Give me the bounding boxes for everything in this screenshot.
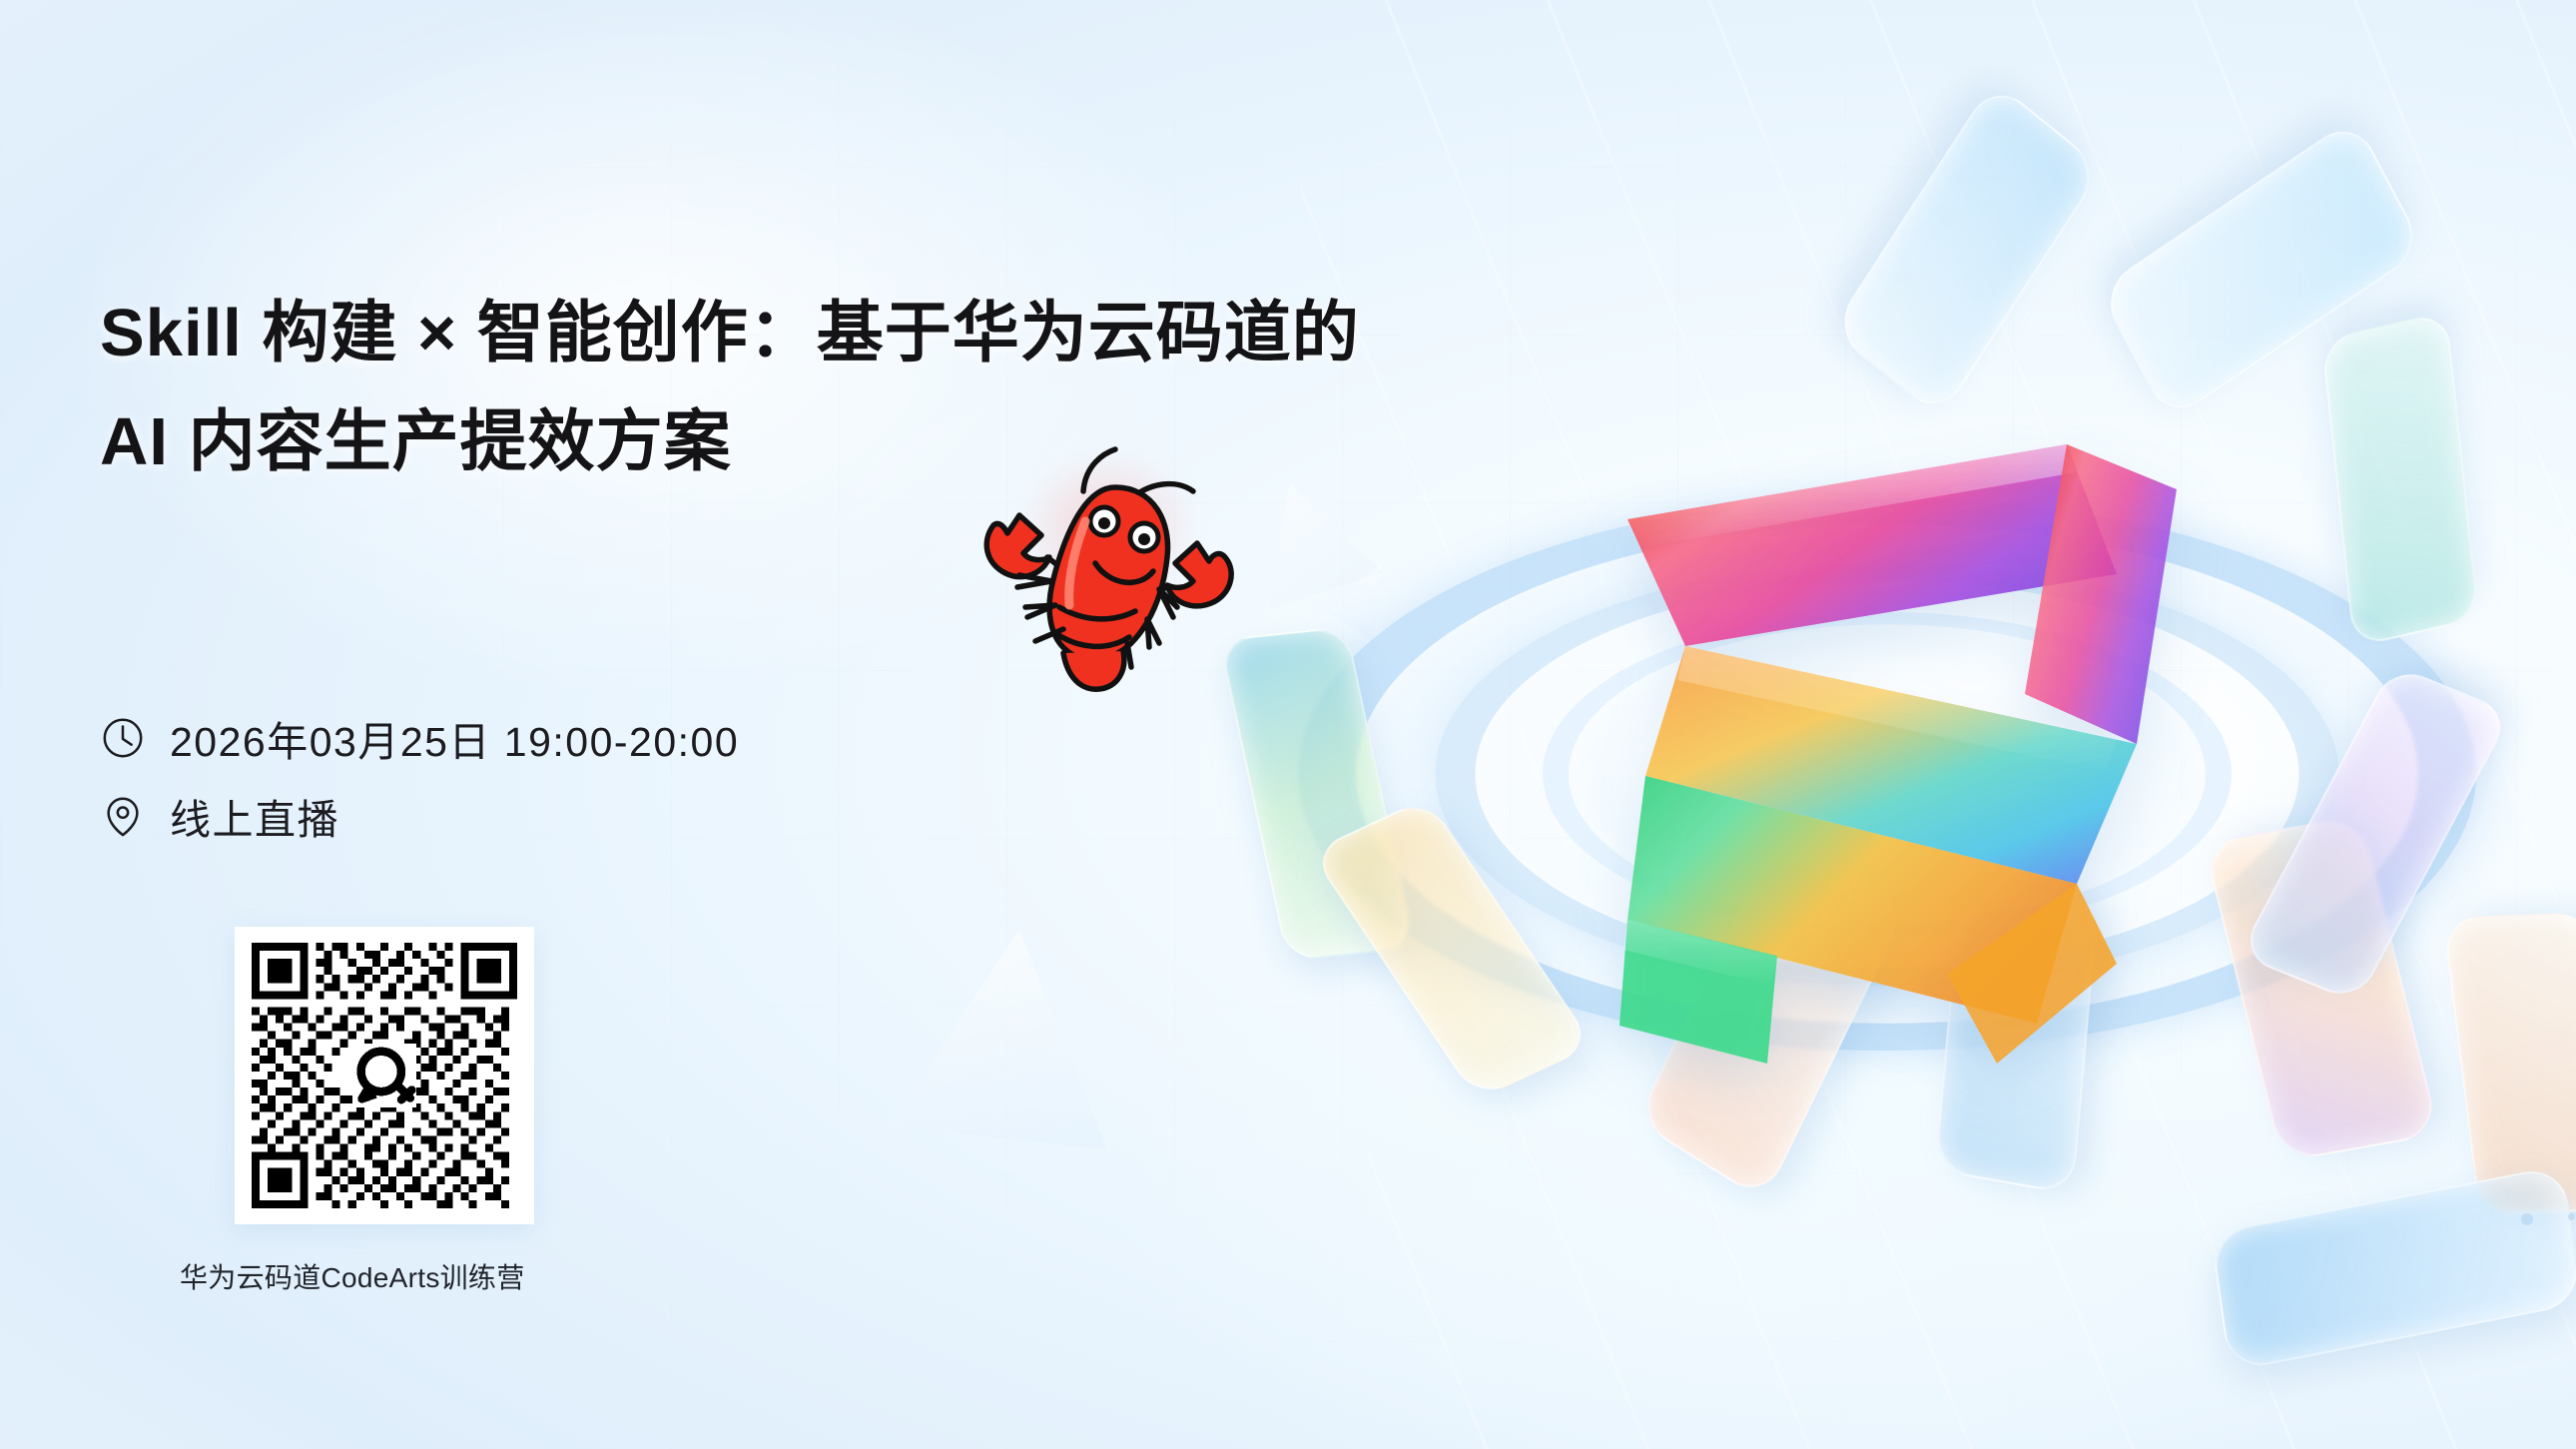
event-location: 线上直播 — [170, 786, 339, 846]
glass-blade — [2321, 311, 2479, 647]
qr-caption: 华为云码道CodeArts训练营 — [180, 1256, 479, 1296]
glass-blade — [2211, 1164, 2576, 1372]
lobster-sticker — [964, 429, 1253, 709]
qr-code[interactable] — [235, 927, 534, 1224]
clock-icon — [100, 715, 146, 761]
rainbow-ribbon-logo — [1478, 325, 2316, 1123]
page-title-line-2: AI 内容生产提效方案 — [100, 388, 1518, 497]
promo-banner: Skill 构建 × 智能创作：基于华为云码道的 AI 内容生产提效方案 202… — [0, 0, 2576, 1449]
location-pin-icon — [100, 793, 146, 839]
event-meta-block: 2026年03月25日 19:00-20:00 线上直播 — [100, 699, 739, 855]
event-location-row: 线上直播 — [100, 777, 739, 855]
page-title-line-1: Skill 构建 × 智能创作：基于华为云码道的 — [100, 280, 1518, 388]
event-datetime-row: 2026年03月25日 19:00-20:00 — [100, 699, 739, 777]
content-column: Skill 构建 × 智能创作：基于华为云码道的 AI 内容生产提效方案 202… — [0, 0, 1338, 1449]
event-datetime: 2026年03月25日 19:00-20:00 — [170, 708, 739, 768]
qr-block: 华为云码道CodeArts训练营 — [235, 927, 534, 1296]
glass-blade — [2442, 912, 2576, 1214]
decor-dot — [2568, 1213, 2575, 1220]
title-block: Skill 构建 × 智能创作：基于华为云码道的 AI 内容生产提效方案 — [100, 280, 1518, 496]
decor-dot — [2521, 1213, 2533, 1225]
